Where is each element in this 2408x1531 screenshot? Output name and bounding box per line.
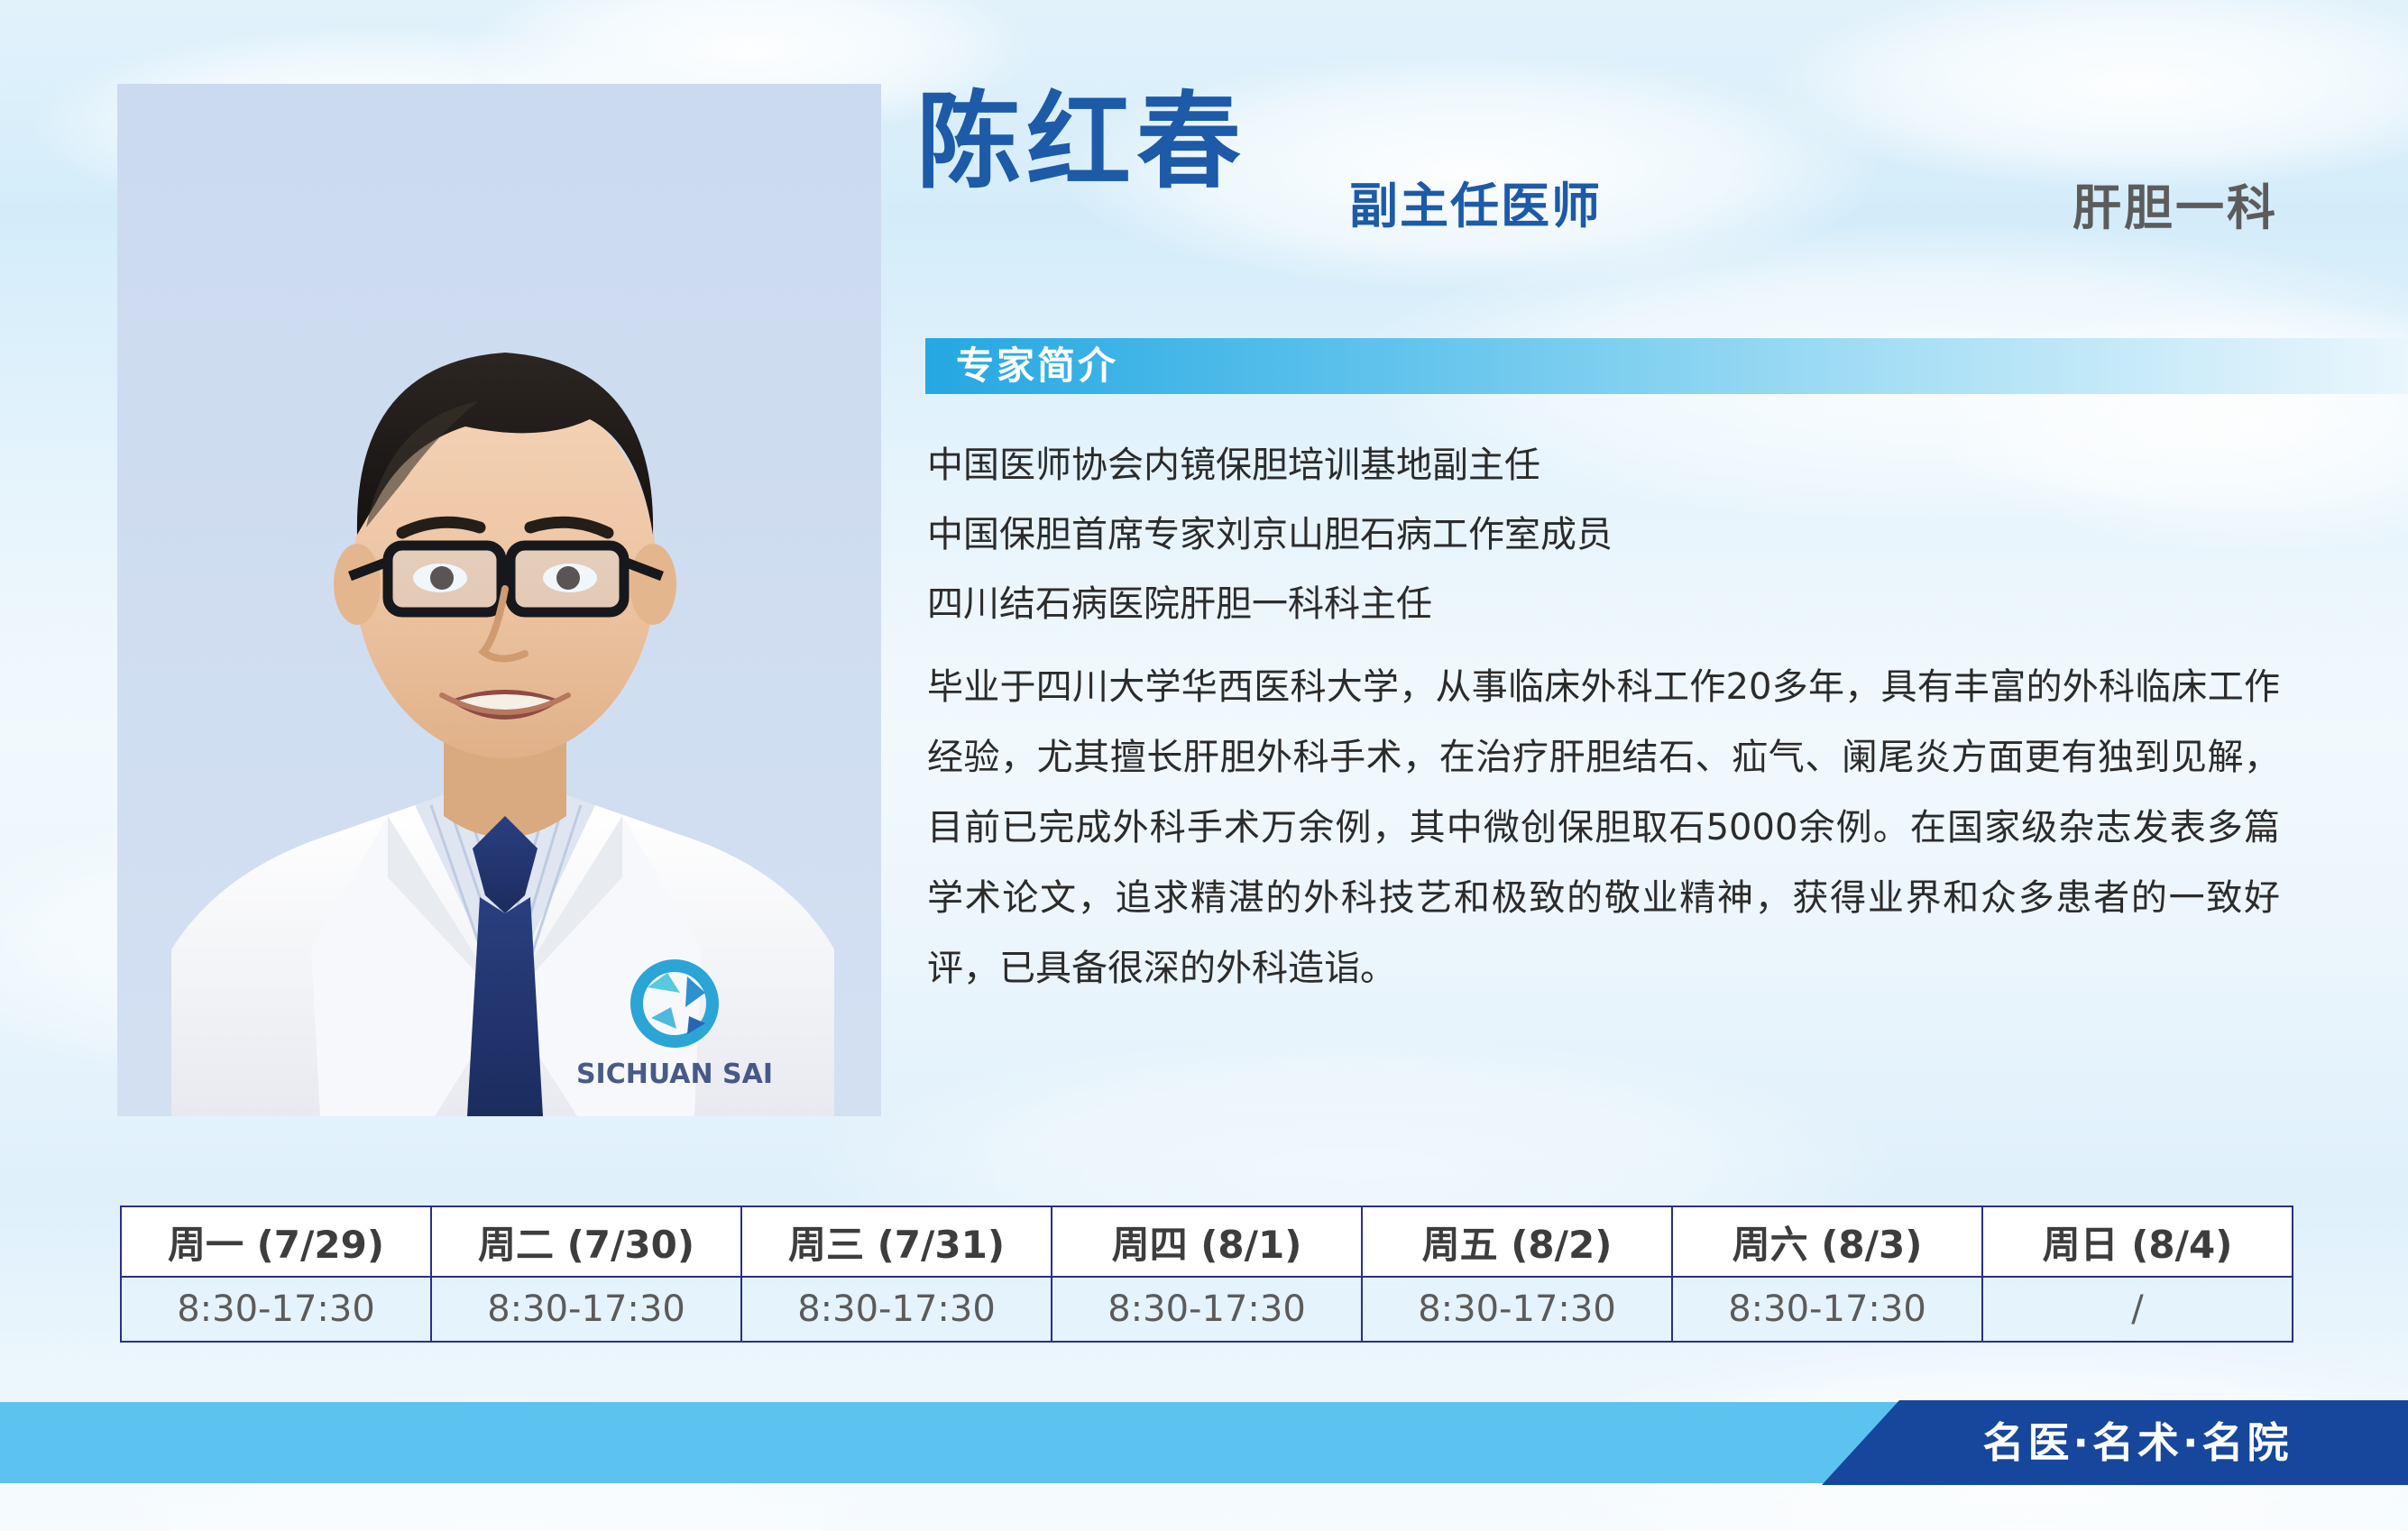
credential-line: 四川结石病医院肝胆一科科主任 (927, 570, 2280, 639)
credential-line: 中国医师协会内镜保胆培训基地副主任 (927, 431, 2280, 500)
schedule-hours-cell: 8:30-17:30 (121, 1277, 431, 1342)
expert-intro-label: 专家简介 (956, 347, 1118, 385)
schedule-hours-cell: 8:30-17:30 (741, 1277, 1052, 1342)
schedule-day-header: 周日 (8/4) (1982, 1206, 2293, 1277)
schedule-day-header: 周四 (8/1) (1052, 1206, 1362, 1277)
schedule-day-header: 周五 (8/2) (1362, 1206, 1672, 1277)
schedule-hours-cell: / (1982, 1277, 2293, 1342)
credential-line: 中国保胆首席专家刘京山胆石病工作室成员 (927, 500, 2280, 570)
schedule-hours-cell: 8:30-17:30 (431, 1277, 741, 1342)
doctor-name: 陈红春 (916, 90, 1246, 195)
doctor-department: 肝胆一科 (2073, 184, 2278, 233)
schedule-header-row: 周一 (7/29) 周二 (7/30) 周三 (7/31) 周四 (8/1) 周… (121, 1206, 2293, 1277)
biography-paragraph: 毕业于四川大学华西医科大学，从事临床外科工作20多年，具有丰富的外科临床工作经验… (927, 652, 2280, 1004)
svg-text:SICHUAN SAI: SICHUAN SAI (576, 1059, 773, 1090)
doctor-header: 陈红春 副主任医师 肝胆一科 (916, 108, 2323, 280)
schedule-hours-cell: 8:30-17:30 (1672, 1277, 1982, 1342)
schedule-day-header: 周六 (8/3) (1672, 1206, 1982, 1277)
schedule-day-header: 周三 (7/31) (741, 1206, 1052, 1277)
schedule-table: 周一 (7/29) 周二 (7/30) 周三 (7/31) 周四 (8/1) 周… (120, 1206, 2293, 1343)
schedule-day-header: 周一 (7/29) (121, 1206, 431, 1277)
portrait-illustration: SICHUAN SAI (117, 84, 881, 1116)
doctor-title: 副主任医师 (1349, 182, 1602, 231)
footer-slogan-label: 名医·名术·名院 (1938, 1422, 2293, 1463)
schedule-hours-cell: 8:30-17:30 (1052, 1277, 1362, 1342)
doctor-biography: 中国医师协会内镜保胆培训基地副主任 中国保胆首席专家刘京山胆石病工作室成员 四川… (927, 431, 2280, 1004)
schedule-hours-cell: 8:30-17:30 (1362, 1277, 1672, 1342)
footer-slogan-tag: 名医·名术·名院 (1822, 1400, 2408, 1485)
expert-intro-bar: 专家简介 (925, 338, 2408, 394)
schedule-day-header: 周二 (7/30) (431, 1206, 741, 1277)
doctor-portrait: SICHUAN SAI (117, 84, 881, 1116)
doctor-profile-card: SICHUAN SAI 陈红春 副主任医师 肝胆一科 专家简介 中国医师协会内镜… (0, 0, 2408, 1531)
schedule-hours-row: 8:30-17:30 8:30-17:30 8:30-17:30 8:30-17… (121, 1277, 2293, 1342)
